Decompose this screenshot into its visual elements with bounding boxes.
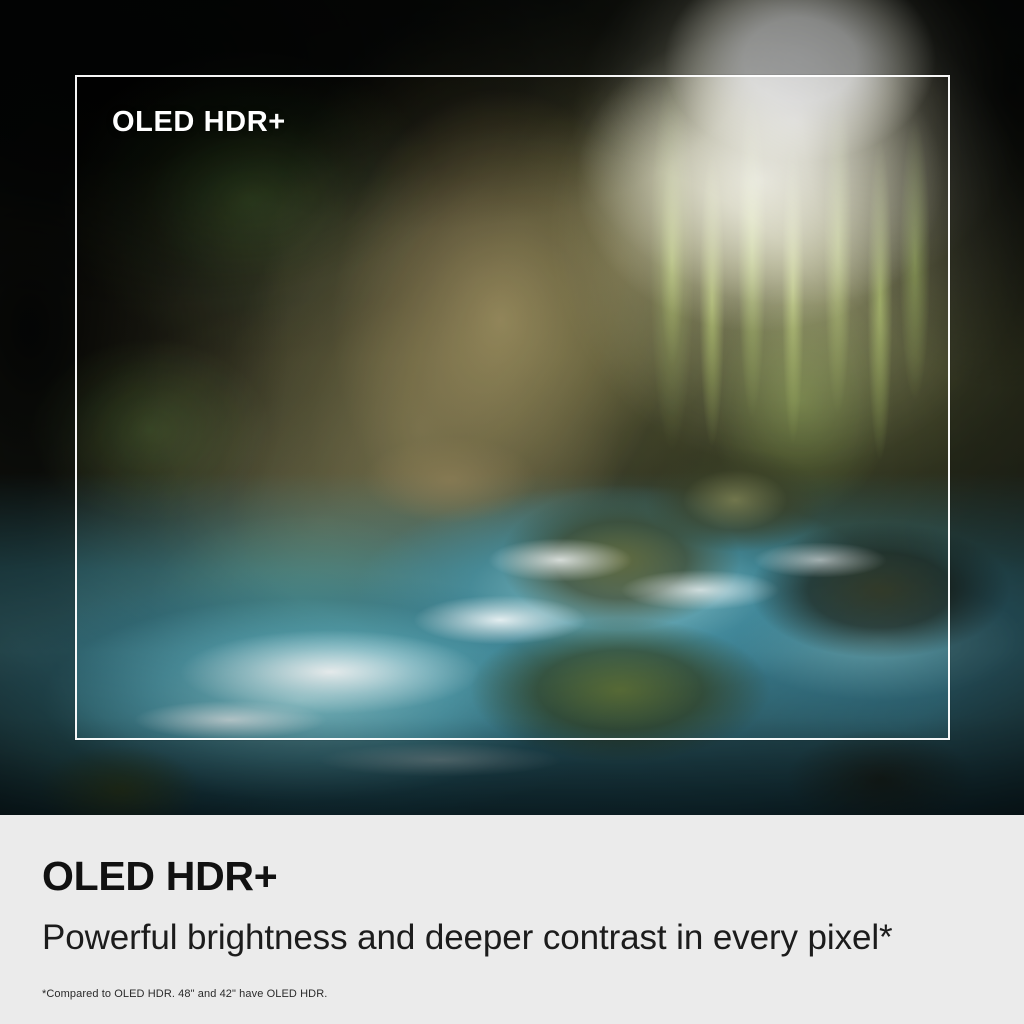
feature-subheadline: Powerful brightness and deeper contrast …	[42, 919, 893, 958]
hero-photo: OLED HDR+	[0, 0, 1024, 815]
product-feature-card: OLED HDR+ OLED HDR+ Powerful brightness …	[0, 0, 1024, 1024]
feature-headline: OLED HDR+	[42, 856, 277, 897]
caption-panel: OLED HDR+ Powerful brightness and deeper…	[0, 815, 1024, 1024]
feature-footnote: *Compared to OLED HDR. 48" and 42" have …	[42, 988, 327, 1000]
overlay-feature-label: OLED HDR+	[112, 106, 286, 139]
